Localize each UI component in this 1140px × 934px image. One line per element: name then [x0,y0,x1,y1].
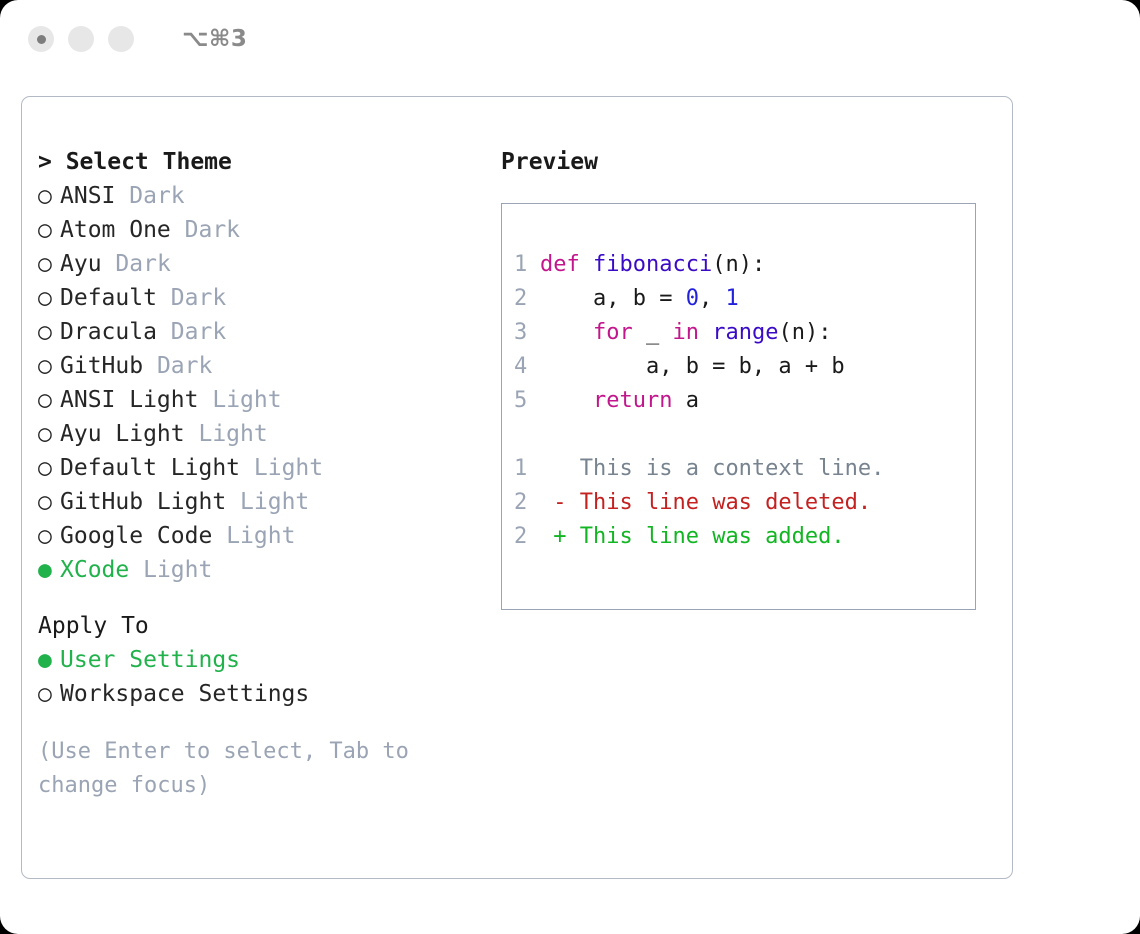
traffic-light-inner-dot [37,35,46,44]
code-line-number: 3 [514,316,540,350]
code-line: 1def fibonacci(n): [514,248,975,282]
traffic-light-minimize-icon[interactable] [68,26,94,52]
theme-option-kind: Dark [129,183,184,209]
radio-unselected-icon: ○ [38,417,60,451]
select-theme-header: > Select Theme [38,145,478,179]
apply-to-header: Apply To [38,609,478,643]
theme-option-name: Atom One [60,217,171,243]
theme-option-name: GitHub [60,353,143,379]
radio-unselected-icon: ○ [38,383,60,417]
diff-line-text: This line was added. [567,524,845,549]
theme-option-kind: Dark [185,217,240,243]
code-token: range [712,320,778,345]
code-token [699,320,712,345]
code-token: 0 [686,286,699,311]
theme-option-name: Google Code [60,523,212,549]
traffic-light-maximize-icon[interactable] [108,26,134,52]
diff-line-number: 2 [514,486,540,520]
code-token [540,320,593,345]
theme-option-kind: Light [254,455,323,481]
theme-option[interactable]: ○Atom One Dark [38,213,478,247]
theme-option[interactable]: ○Ayu Dark [38,247,478,281]
code-token: return [593,388,672,413]
theme-option[interactable]: ●XCode Light [38,553,478,587]
code-token: _ [633,320,673,345]
code-token: a, b = [540,286,686,311]
code-token: a [672,388,699,413]
apply-to-option[interactable]: ○Workspace Settings [38,677,478,711]
theme-option-kind: Dark [115,251,170,277]
theme-option-kind: Dark [171,319,226,345]
hint-spacer [38,711,478,735]
radio-unselected-icon: ○ [38,315,60,349]
radio-unselected-icon: ○ [38,519,60,553]
radio-unselected-icon: ○ [38,213,60,247]
code-token: 1 [725,286,738,311]
keyboard-hint-text: (Use Enter to select, Tab to change focu… [38,735,458,803]
apply-to-option[interactable]: ●User Settings [38,643,478,677]
radio-unselected-icon: ○ [38,677,60,711]
code-token [540,388,593,413]
main-panel: > Select Theme ○ANSI Dark○Atom One Dark○… [21,96,1013,879]
code-line-number: 4 [514,350,540,384]
diff-line: 1 This is a context line. [514,452,975,486]
code-sample: 1def fibonacci(n):2 a, b = 0, 13 for _ i… [514,248,975,418]
window-titlebar: ⌥⌘3 [0,0,1140,78]
preview-code-box: 1def fibonacci(n):2 a, b = 0, 13 for _ i… [501,203,976,610]
theme-option-kind: Dark [157,353,212,379]
theme-selector-column: > Select Theme ○ANSI Dark○Atom One Dark○… [38,145,478,803]
code-token: a, b = b, a + b [540,354,845,379]
theme-option[interactable]: ○Default Dark [38,281,478,315]
theme-option-kind: Light [143,557,212,583]
preview-header: Preview [501,145,991,179]
apply-to-option-label: Workspace Settings [60,681,309,707]
theme-option[interactable]: ○Dracula Dark [38,315,478,349]
keyboard-shortcut-label: ⌥⌘3 [182,26,247,52]
code-line: 5 return a [514,384,975,418]
panel-columns: > Select Theme ○ANSI Dark○Atom One Dark○… [22,97,1012,878]
diff-line-number: 1 [514,452,540,486]
radio-unselected-icon: ○ [38,179,60,213]
code-line-number: 2 [514,282,540,316]
code-token: in [672,320,699,345]
code-line: 4 a, b = b, a + b [514,350,975,384]
code-token: for [593,320,633,345]
code-token: (n): [778,320,831,345]
theme-option[interactable]: ○Google Code Light [38,519,478,553]
theme-option-name: Dracula [60,319,157,345]
code-line-number: 5 [514,384,540,418]
radio-unselected-icon: ○ [38,281,60,315]
theme-option[interactable]: ○ANSI Light Light [38,383,478,417]
theme-option-kind: Light [240,489,309,515]
theme-option[interactable]: ○GitHub Light Light [38,485,478,519]
theme-option-kind: Light [198,421,267,447]
theme-option-kind: Dark [171,285,226,311]
radio-selected-icon: ● [38,643,60,677]
theme-option[interactable]: ○GitHub Dark [38,349,478,383]
theme-option[interactable]: ○Default Light Light [38,451,478,485]
app-window: ⌥⌘3 > Select Theme ○ANSI Dark○Atom One D… [0,0,1140,934]
radio-unselected-icon: ○ [38,247,60,281]
diff-marker: + [540,524,567,549]
code-line: 2 a, b = 0, 1 [514,282,975,316]
diff-line-text: This line was deleted. [567,490,872,515]
diff-marker: - [540,490,567,515]
theme-option-kind: Light [212,387,281,413]
theme-option-name: Ayu Light [60,421,185,447]
theme-option-name: Default [60,285,157,311]
theme-option-name: ANSI Light [60,387,198,413]
apply-to-list[interactable]: ●User Settings○Workspace Settings [38,643,478,711]
diff-line: 2 + This line was added. [514,520,975,554]
radio-unselected-icon: ○ [38,451,60,485]
theme-option-kind: Light [226,523,295,549]
theme-option-name: XCode [60,557,129,583]
code-token: (n): [712,252,765,277]
code-token: , [699,286,726,311]
radio-selected-icon: ● [38,553,60,587]
radio-unselected-icon: ○ [38,349,60,383]
theme-option[interactable]: ○Ayu Light Light [38,417,478,451]
code-diff-separator [514,418,975,452]
theme-option[interactable]: ○ANSI Dark [38,179,478,213]
theme-option-name: Default Light [60,455,240,481]
theme-option-name: Ayu [60,251,102,277]
diff-line-number: 2 [514,520,540,554]
apply-to-option-label: User Settings [60,647,240,673]
list-spacer [38,587,478,609]
radio-unselected-icon: ○ [38,485,60,519]
code-line: 3 for _ in range(n): [514,316,975,350]
theme-option-name: GitHub Light [60,489,226,515]
diff-marker [540,456,567,481]
traffic-light-close-icon[interactable] [28,26,54,52]
theme-option-name: ANSI [60,183,115,209]
code-line-number: 1 [514,248,540,282]
diff-line-text: This is a context line. [567,456,885,481]
diff-sample: 1 This is a context line.2 - This line w… [514,452,975,554]
preview-column: Preview 1def fibonacci(n):2 a, b = 0, 13… [501,145,991,610]
code-token: fibonacci [593,252,712,277]
theme-list[interactable]: ○ANSI Dark○Atom One Dark○Ayu Dark○Defaul… [38,179,478,587]
code-token: def [540,252,593,277]
diff-line: 2 - This line was deleted. [514,486,975,520]
